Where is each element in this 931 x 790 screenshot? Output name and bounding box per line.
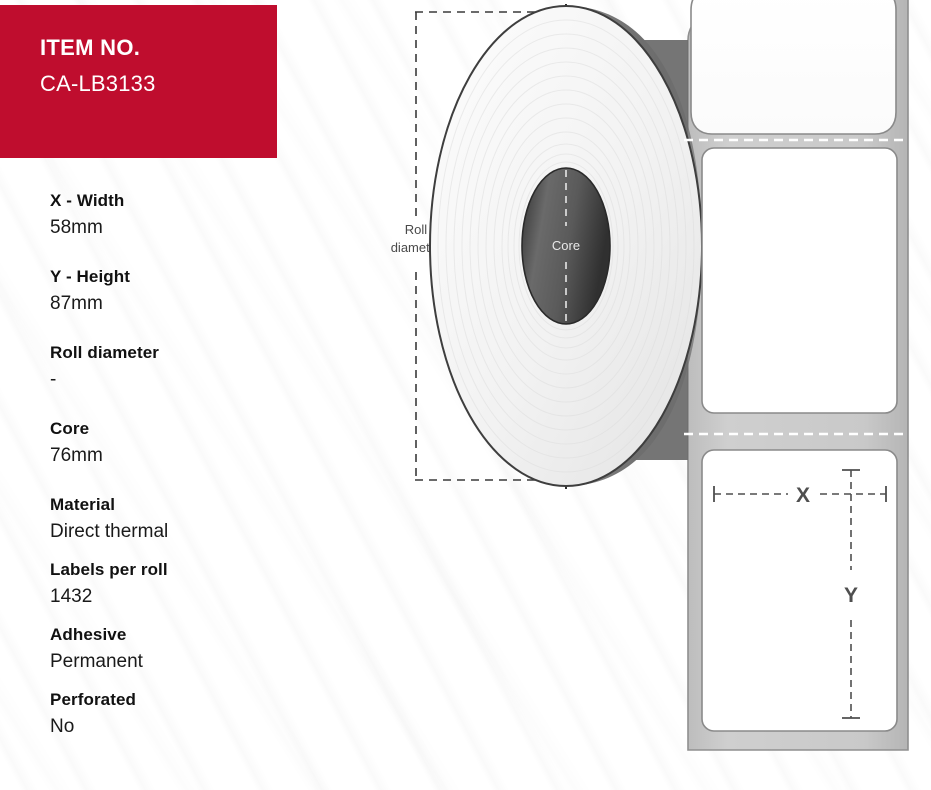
spec-row-perforated: Perforated No bbox=[50, 687, 300, 741]
spec-value-adhesive: Permanent bbox=[50, 648, 300, 676]
spec-value-roll-diameter: - bbox=[50, 366, 300, 394]
spec-label-roll-diameter: Roll diameter bbox=[50, 340, 300, 366]
spec-row-height: Y - Height 87mm bbox=[50, 264, 300, 318]
label-face-middle bbox=[702, 148, 897, 413]
spec-label-adhesive: Adhesive bbox=[50, 622, 300, 648]
spec-value-material: Direct thermal bbox=[50, 518, 300, 546]
specification-list: X - Width 58mm Y - Height 87mm Roll diam… bbox=[50, 188, 300, 752]
spec-value-width: 58mm bbox=[50, 214, 300, 242]
y-dimension-label: Y bbox=[844, 584, 858, 607]
item-no-title: ITEM NO. bbox=[40, 33, 277, 63]
spec-label-height: Y - Height bbox=[50, 264, 300, 290]
core-label: Core bbox=[552, 238, 580, 253]
item-code-value: CA-LB3133 bbox=[40, 67, 277, 101]
spec-row-roll-diameter: Roll diameter - bbox=[50, 340, 300, 394]
spec-row-adhesive: Adhesive Permanent bbox=[50, 622, 300, 676]
spec-value-height: 87mm bbox=[50, 290, 300, 318]
spec-label-width: X - Width bbox=[50, 188, 300, 214]
spec-value-labels-per-roll: 1432 bbox=[50, 583, 300, 611]
roll-diameter-label-line1: Roll bbox=[405, 222, 428, 237]
roll-face: Core bbox=[430, 6, 702, 486]
spec-value-perforated: No bbox=[50, 713, 300, 741]
label-roll-illustration: Roll diameter bbox=[330, 0, 931, 790]
product-spec-sheet: ITEM NO. CA-LB3133 X - Width 58mm Y - He… bbox=[0, 0, 931, 790]
label-top bbox=[684, 0, 906, 140]
spec-label-labels-per-roll: Labels per roll bbox=[50, 557, 300, 583]
label-face-top bbox=[691, 0, 896, 134]
spec-label-material: Material bbox=[50, 492, 300, 518]
spec-row-material: Material Direct thermal bbox=[50, 492, 300, 546]
spec-label-perforated: Perforated bbox=[50, 687, 300, 713]
item-number-header: ITEM NO. CA-LB3133 bbox=[0, 5, 277, 158]
label-middle bbox=[684, 148, 906, 434]
x-dimension-label: X bbox=[796, 484, 810, 507]
spec-value-core: 76mm bbox=[50, 442, 300, 470]
spec-row-core: Core 76mm bbox=[50, 416, 300, 470]
spec-row-width: X - Width 58mm bbox=[50, 188, 300, 242]
spec-label-core: Core bbox=[50, 416, 300, 442]
spec-row-labels-per-roll: Labels per roll 1432 bbox=[50, 557, 300, 611]
